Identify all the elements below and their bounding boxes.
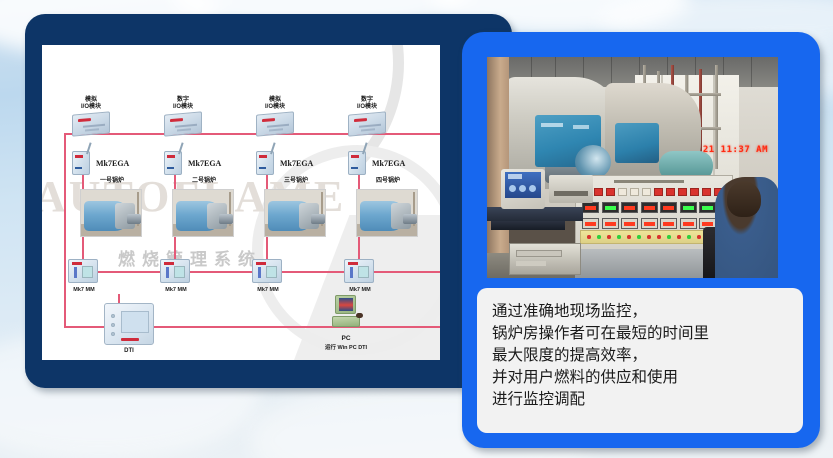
mk7ega-label-1: Mk7EGA [96,159,129,168]
device-logo-strip [259,155,267,158]
diagram-panel: AUTOFLAME 燃烧管理系统 模拟I/O模块 [25,14,512,388]
mk7ega-device-1 [72,151,90,175]
device-logo-strip [72,262,82,265]
device-logo-strip [75,155,83,158]
device-faceplate-subtext [85,128,99,131]
device-faceplate-text [359,124,381,128]
boiler-label-1: 一号锅炉 [82,178,142,185]
photo-left-column [487,57,509,278]
device-display [82,266,93,278]
device-logo-strip [351,155,359,158]
caption-line: 锅炉房操作者可在最短的时间里 [492,322,803,344]
device-display [358,266,369,278]
device-logo-strip [262,118,275,122]
panel-indicator-row [582,188,723,196]
indicator-lamp [666,188,675,196]
device-display [266,266,277,278]
io-module-label-4: 数字I/O模块 [342,97,392,111]
bus-line-left [64,133,66,327]
device-faceplate-subtext [177,128,191,131]
io-module-device-1 [72,111,110,136]
indicator-lamp [642,188,651,196]
digital-meter [641,218,658,229]
boiler-photo-2 [172,189,234,237]
digital-meter [660,202,677,213]
caption-line: 并对用户燃料的供应和使用 [492,366,803,388]
boiler-label-4: 四号锅炉 [358,178,418,185]
device-faceplate-text [175,124,197,128]
photo-desk [487,207,583,221]
boiler-photo-3 [264,189,326,237]
device-logo-strip [354,118,367,122]
mk7mm-label-2: Mk7 MM [156,287,196,293]
device-logo-strip [348,262,358,265]
boiler-burner [311,214,325,224]
device-logo-strip [78,118,91,122]
caption-card: 通过准确地现场监控， 锅炉房操作者可在最短的时间里 最大限度的提高效率， 并对用… [477,288,803,433]
pc-workstation-icon [332,295,360,331]
io-module-label-2: 数字I/O模块 [158,97,208,111]
printer-slot [554,191,588,196]
device-indicator [351,167,358,169]
device-display [121,311,149,333]
photo-timestamp: 21 11:37 AM [703,145,768,155]
digital-meter [641,202,658,213]
indicator-lamp [594,188,603,196]
photo-keyboard [491,221,565,230]
drive-bay [516,261,546,266]
device-knob [111,314,115,318]
indicator-lamp [678,188,687,196]
dti-device [104,303,154,345]
digital-meter [602,202,619,213]
mk7ega-label-3: Mk7EGA [280,159,313,168]
watermark-chinese: 燃烧管理系统 [118,245,262,270]
device-logo-strip [121,338,139,341]
digital-meter [582,218,599,229]
keyboard-icon [332,316,360,327]
system-diagram-board: AUTOFLAME 燃烧管理系统 模拟I/O模块 [42,45,440,360]
indicator-lamp [630,188,639,196]
indicator-lamp [690,188,699,196]
mk7mm-device-2 [160,259,190,283]
device-bargraph [74,267,77,278]
digital-meter [660,218,677,229]
digital-meter [699,202,716,213]
boiler-label-2: 二号锅炉 [174,178,234,185]
boiler-photo-4 [356,189,418,237]
photo-crt-monitor [501,169,545,209]
boiler-burner [127,214,141,224]
mk7mm-label-3: Mk7 MM [248,287,288,293]
device-bargraph [350,267,353,278]
device-bargraph [166,267,169,278]
device-faceplate-text [83,124,105,128]
monitor-screen [505,172,541,198]
operator-head [727,181,761,217]
mk7ega-label-4: Mk7EGA [372,159,405,168]
caption-text-block: 通过准确地现场监控， 锅炉房操作者可在最短的时间里 最大限度的提高效率， 并对用… [477,288,803,410]
io-module-label-1: 模拟I/O模块 [66,97,116,111]
device-logo-strip [256,262,266,265]
mouse-icon [356,313,363,318]
caption-line: 进行监控调配 [492,388,803,410]
mk7ega-device-3 [256,151,274,175]
digital-meter [680,202,697,213]
burner-nameplate [541,123,563,127]
panel-meter-row-upper [582,202,736,213]
device-bargraph [258,267,261,278]
io-module-device-2 [164,111,202,136]
mk7mm-label-4: Mk7 MM [340,287,380,293]
device-indicator [259,167,266,169]
indicator-lamp [702,188,711,196]
device-indicator [75,167,82,169]
burner-nameplate [573,125,589,129]
digital-meter [621,202,638,213]
antenna-icon [86,142,91,154]
photo-caption-panel: 21 11:37 AM 通过准确地现场监控， 锅炉房操作者可在最短的时间里 最大… [462,32,820,448]
caption-line: 通过准确地现场监控， [492,300,803,322]
digital-meter [602,218,619,229]
boiler-photo-1 [80,189,142,237]
panel-title-plate [614,180,684,183]
drive-bay [516,250,562,257]
mk7mm-label-1: Mk7 MM [64,287,104,293]
io-module-device-4 [348,111,386,136]
io-module-label-3: 模拟I/O模块 [250,97,300,111]
boiler-burner [219,214,233,224]
device-indicator [167,167,174,169]
mk7ega-label-2: Mk7EGA [188,159,221,168]
device-knob [111,323,115,327]
indicator-lamp [654,188,663,196]
digital-meter [680,218,697,229]
boiler-label-3: 三号锅炉 [266,178,326,185]
device-faceplate-text [267,124,289,128]
photo-burner-secondary [615,123,659,163]
io-module-device-3 [256,111,294,136]
indicator-lamp [618,188,627,196]
caption-line: 最大限度的提高效率， [492,344,803,366]
device-logo-strip [164,262,174,265]
device-faceplate-subtext [269,128,283,131]
mk7mm-device-1 [68,259,98,283]
device-knob [111,332,115,336]
mk7mm-device-3 [252,259,282,283]
monitor-screen [339,298,353,311]
device-logo-strip [170,118,183,122]
boiler-burner [403,214,417,224]
digital-meter [621,218,638,229]
photo-pc-tower [509,243,581,275]
mk7ega-device-2 [164,151,182,175]
monitor-icon [335,295,356,314]
device-logo-strip [167,155,175,158]
photo-operator [715,177,778,278]
mk7ega-device-4 [348,151,366,175]
digital-meter [582,202,599,213]
pc-sublabel: 运行 Win PC DTI [314,345,378,351]
photo-burner-fan [575,145,611,179]
mk7mm-device-4 [344,259,374,283]
boiler-room-photograph: 21 11:37 AM [487,57,778,278]
device-display [174,266,185,278]
photo-printer [549,175,593,203]
device-faceplate-subtext [361,128,375,131]
pc-label: PC [326,335,366,342]
dti-label: DTI [109,348,149,355]
indicator-lamp [606,188,615,196]
